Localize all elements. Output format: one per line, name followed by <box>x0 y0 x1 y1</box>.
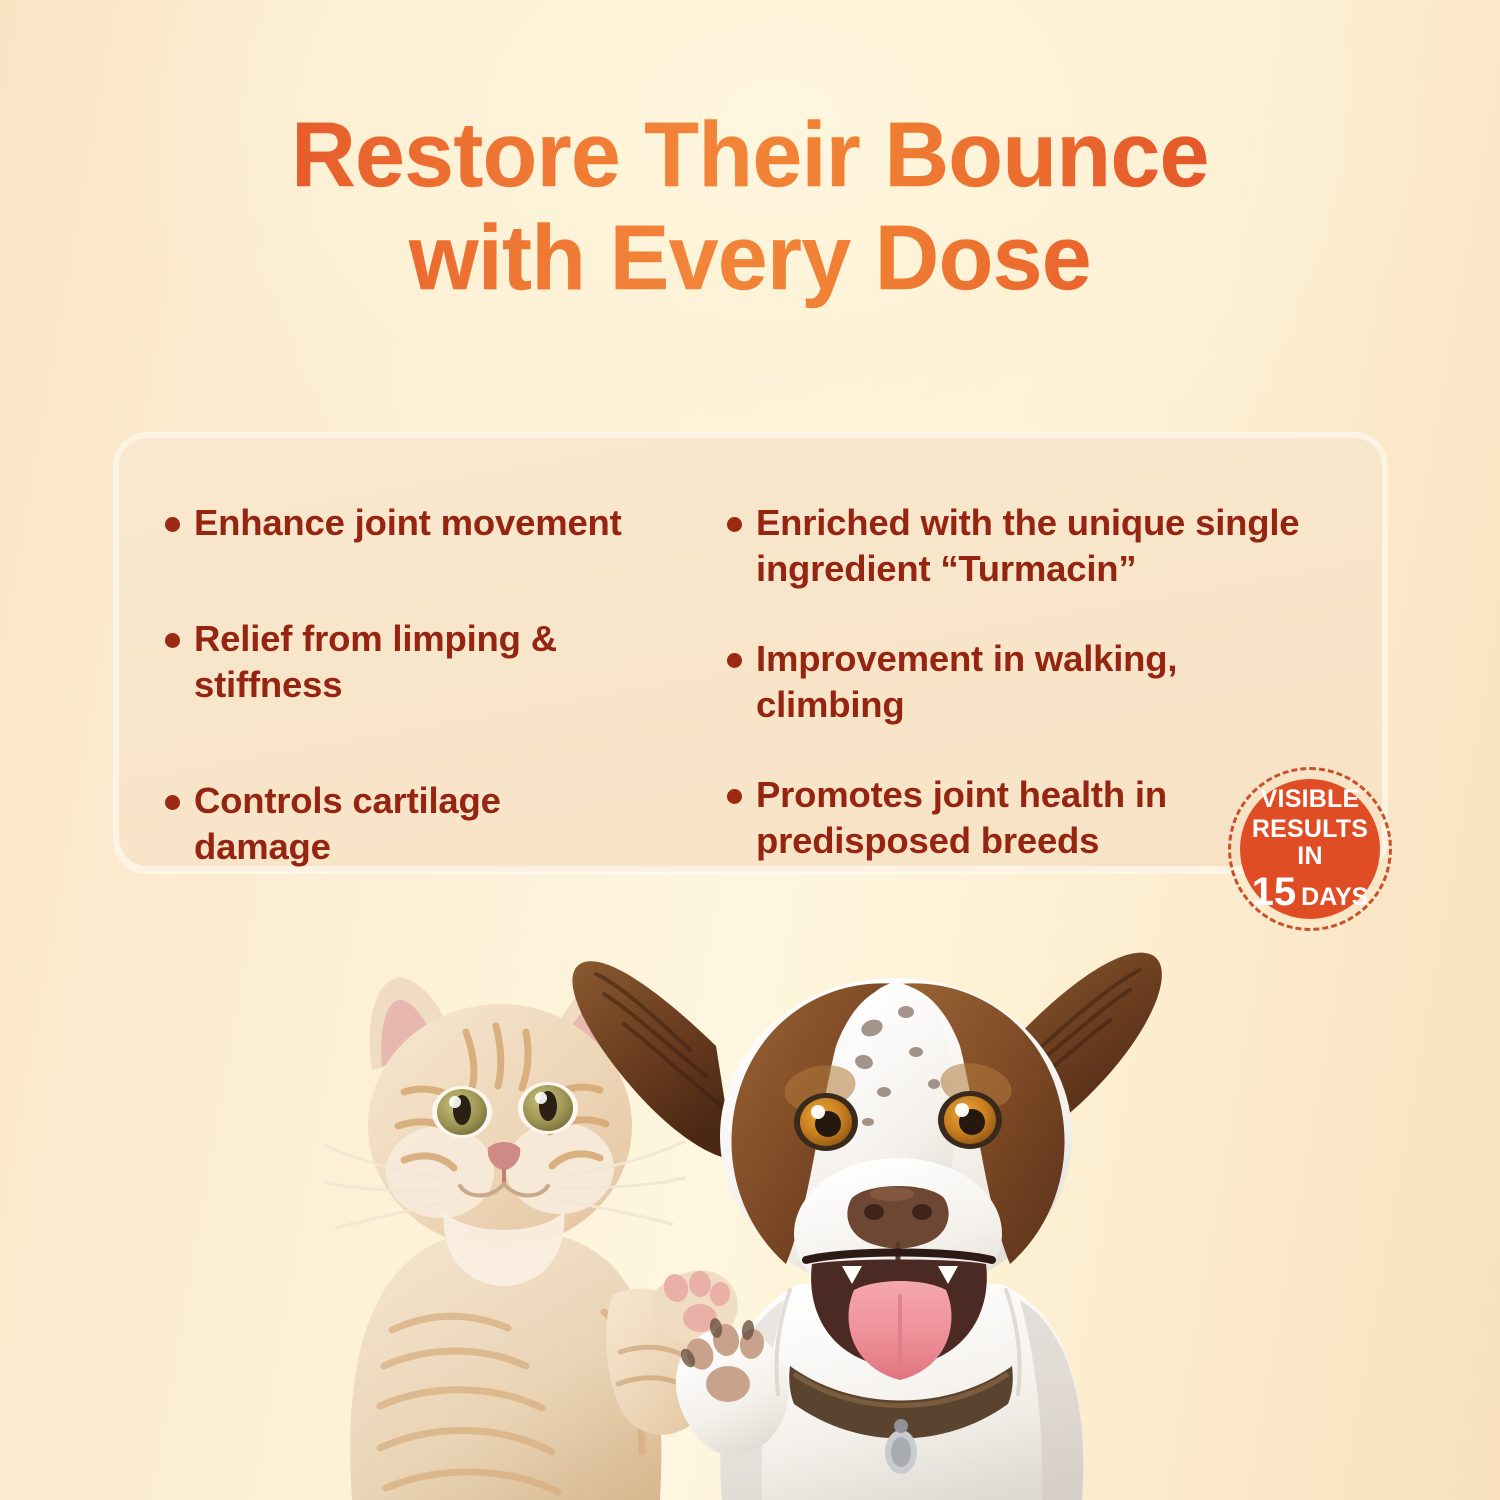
pets-photo <box>0 860 1500 1500</box>
list-item: Controls cartilage damage <box>165 778 635 870</box>
list-item-label: Enhance joint movement <box>194 500 622 546</box>
bullet-dot-icon <box>165 795 180 810</box>
bullet-dot-icon <box>727 789 742 804</box>
bullet-dot-icon <box>727 517 742 532</box>
list-item: Relief from limping & stiffness <box>165 616 635 708</box>
benefits-column-left: Enhance joint movement Relief from limpi… <box>165 478 717 870</box>
promo-banner: Restore Their Bounce with Every Dose Enh… <box>0 0 1500 1500</box>
list-item: Enhance joint movement <box>165 500 635 546</box>
list-item-label: Controls cartilage damage <box>194 778 635 870</box>
list-item-label: Relief from limping & stiffness <box>194 616 635 708</box>
bullet-dot-icon <box>727 653 742 668</box>
bullet-dot-icon <box>165 517 180 532</box>
benefits-grid: Enhance joint movement Relief from limpi… <box>119 438 1382 866</box>
list-item: Enriched with the unique single ingredie… <box>727 500 1327 592</box>
benefits-card: Enhance joint movement Relief from limpi… <box>113 432 1388 872</box>
list-item: Improvement in walking, climbing <box>727 636 1327 728</box>
list-item-label: Improvement in walking, climbing <box>756 636 1327 728</box>
page-title: Restore Their Bounce with Every Dose <box>23 104 1478 310</box>
badge-line-1: VISIBLE <box>1261 786 1360 814</box>
list-item-label: Enriched with the unique single ingredie… <box>756 500 1327 592</box>
headline-line-2: with Every Dose <box>23 207 1478 310</box>
headline-line-1: Restore Their Bounce <box>23 104 1478 207</box>
bullet-dot-icon <box>165 633 180 648</box>
